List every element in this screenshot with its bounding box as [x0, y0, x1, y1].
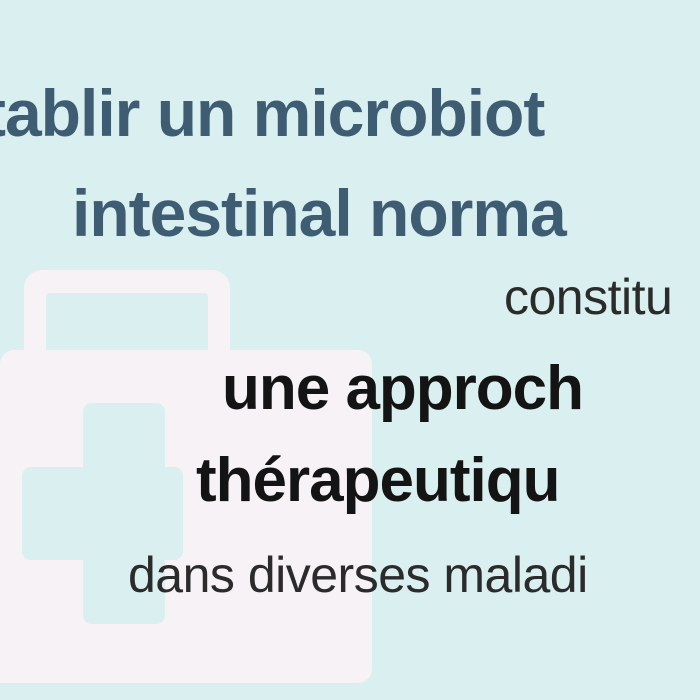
- headline-line-1: tablir un microbiot: [0, 80, 544, 146]
- body-line-3-therapeutique: thérapeutiqu: [196, 450, 559, 512]
- slide-canvas: tablir un microbiot intestinal norma con…: [0, 0, 700, 700]
- headline-line-2: intestinal norma: [72, 180, 566, 246]
- body-line-2-une-approche: une approch: [222, 358, 583, 420]
- text-block: tablir un microbiot intestinal norma con…: [0, 0, 700, 700]
- body-line-1-constitue: constitu: [504, 272, 672, 322]
- body-line-4-dans-diverses-maladies: dans diverses maladi: [128, 550, 588, 600]
